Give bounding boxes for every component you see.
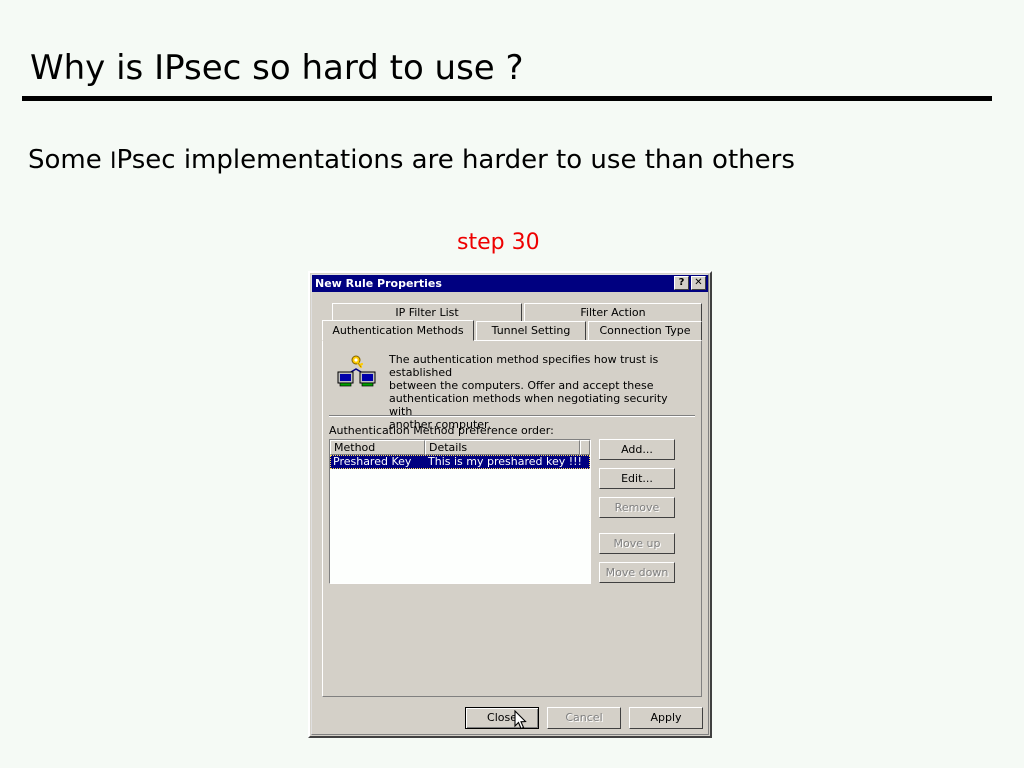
authentication-description: The authentication method specifies how … — [389, 353, 689, 431]
new-rule-properties-dialog: New Rule Properties ? ✕ IP Filter List F… — [308, 271, 712, 738]
title-divider — [22, 96, 992, 101]
table-row[interactable]: Preshared Key This is my preshared key !… — [330, 455, 590, 469]
close-button[interactable]: Close — [465, 707, 539, 729]
titlebar-button-group: ? ✕ — [674, 276, 706, 290]
description-line-1: The authentication method specifies how … — [389, 353, 658, 379]
section-divider — [329, 415, 695, 417]
tab-row-lower: Authentication Methods Tunnel Setting Co… — [322, 321, 702, 340]
body-text-rest: Psec implementations are harder to use t… — [117, 145, 795, 175]
tab-strip: IP Filter List Filter Action Authenticat… — [322, 303, 702, 341]
cell-method: Preshared Key — [330, 455, 425, 469]
tab-content-panel: The authentication method specifies how … — [322, 340, 702, 697]
help-icon[interactable]: ? — [674, 276, 689, 290]
dialog-title-text: New Rule Properties — [312, 277, 442, 290]
slide-body-text: Some IPsec implementations are harder to… — [28, 145, 795, 175]
tab-authentication-methods[interactable]: Authentication Methods — [322, 320, 474, 341]
column-header-spacer — [580, 440, 590, 455]
tab-tunnel-setting[interactable]: Tunnel Setting — [476, 321, 586, 340]
tab-filter-action[interactable]: Filter Action — [524, 303, 702, 322]
add-button[interactable]: Add... — [599, 439, 675, 460]
column-header-method[interactable]: Method — [330, 440, 425, 455]
tab-connection-type[interactable]: Connection Type — [588, 321, 702, 340]
cell-details: This is my preshared key !!! — [425, 455, 585, 469]
dialog-button-bar: Close Cancel Apply — [310, 705, 710, 735]
close-icon[interactable]: ✕ — [691, 276, 706, 290]
info-block: The authentication method specifies how … — [337, 353, 689, 431]
body-text-prefix: Some — [28, 145, 110, 175]
list-header-row: Method Details — [330, 440, 590, 455]
move-up-button: Move up — [599, 533, 675, 554]
page-title: Why is IPsec so hard to use ? — [30, 48, 524, 88]
apply-button[interactable]: Apply — [629, 707, 703, 729]
authentication-methods-list[interactable]: Method Details Preshared Key This is my … — [329, 439, 591, 584]
step-annotation: step 30 — [457, 230, 540, 255]
edit-button[interactable]: Edit... — [599, 468, 675, 489]
cancel-button: Cancel — [547, 707, 621, 729]
description-line-2: between the computers. Offer and accept … — [389, 379, 654, 392]
move-down-button: Move down — [599, 562, 675, 583]
list-action-buttons: Add... Edit... Remove Move up Move down — [599, 439, 689, 591]
preference-order-label: Authentication Method preference order: — [329, 424, 554, 437]
dialog-titlebar[interactable]: New Rule Properties ? ✕ — [312, 275, 708, 292]
two-computers-with-key-icon — [337, 353, 377, 389]
remove-button: Remove — [599, 497, 675, 518]
column-header-details[interactable]: Details — [425, 440, 580, 455]
